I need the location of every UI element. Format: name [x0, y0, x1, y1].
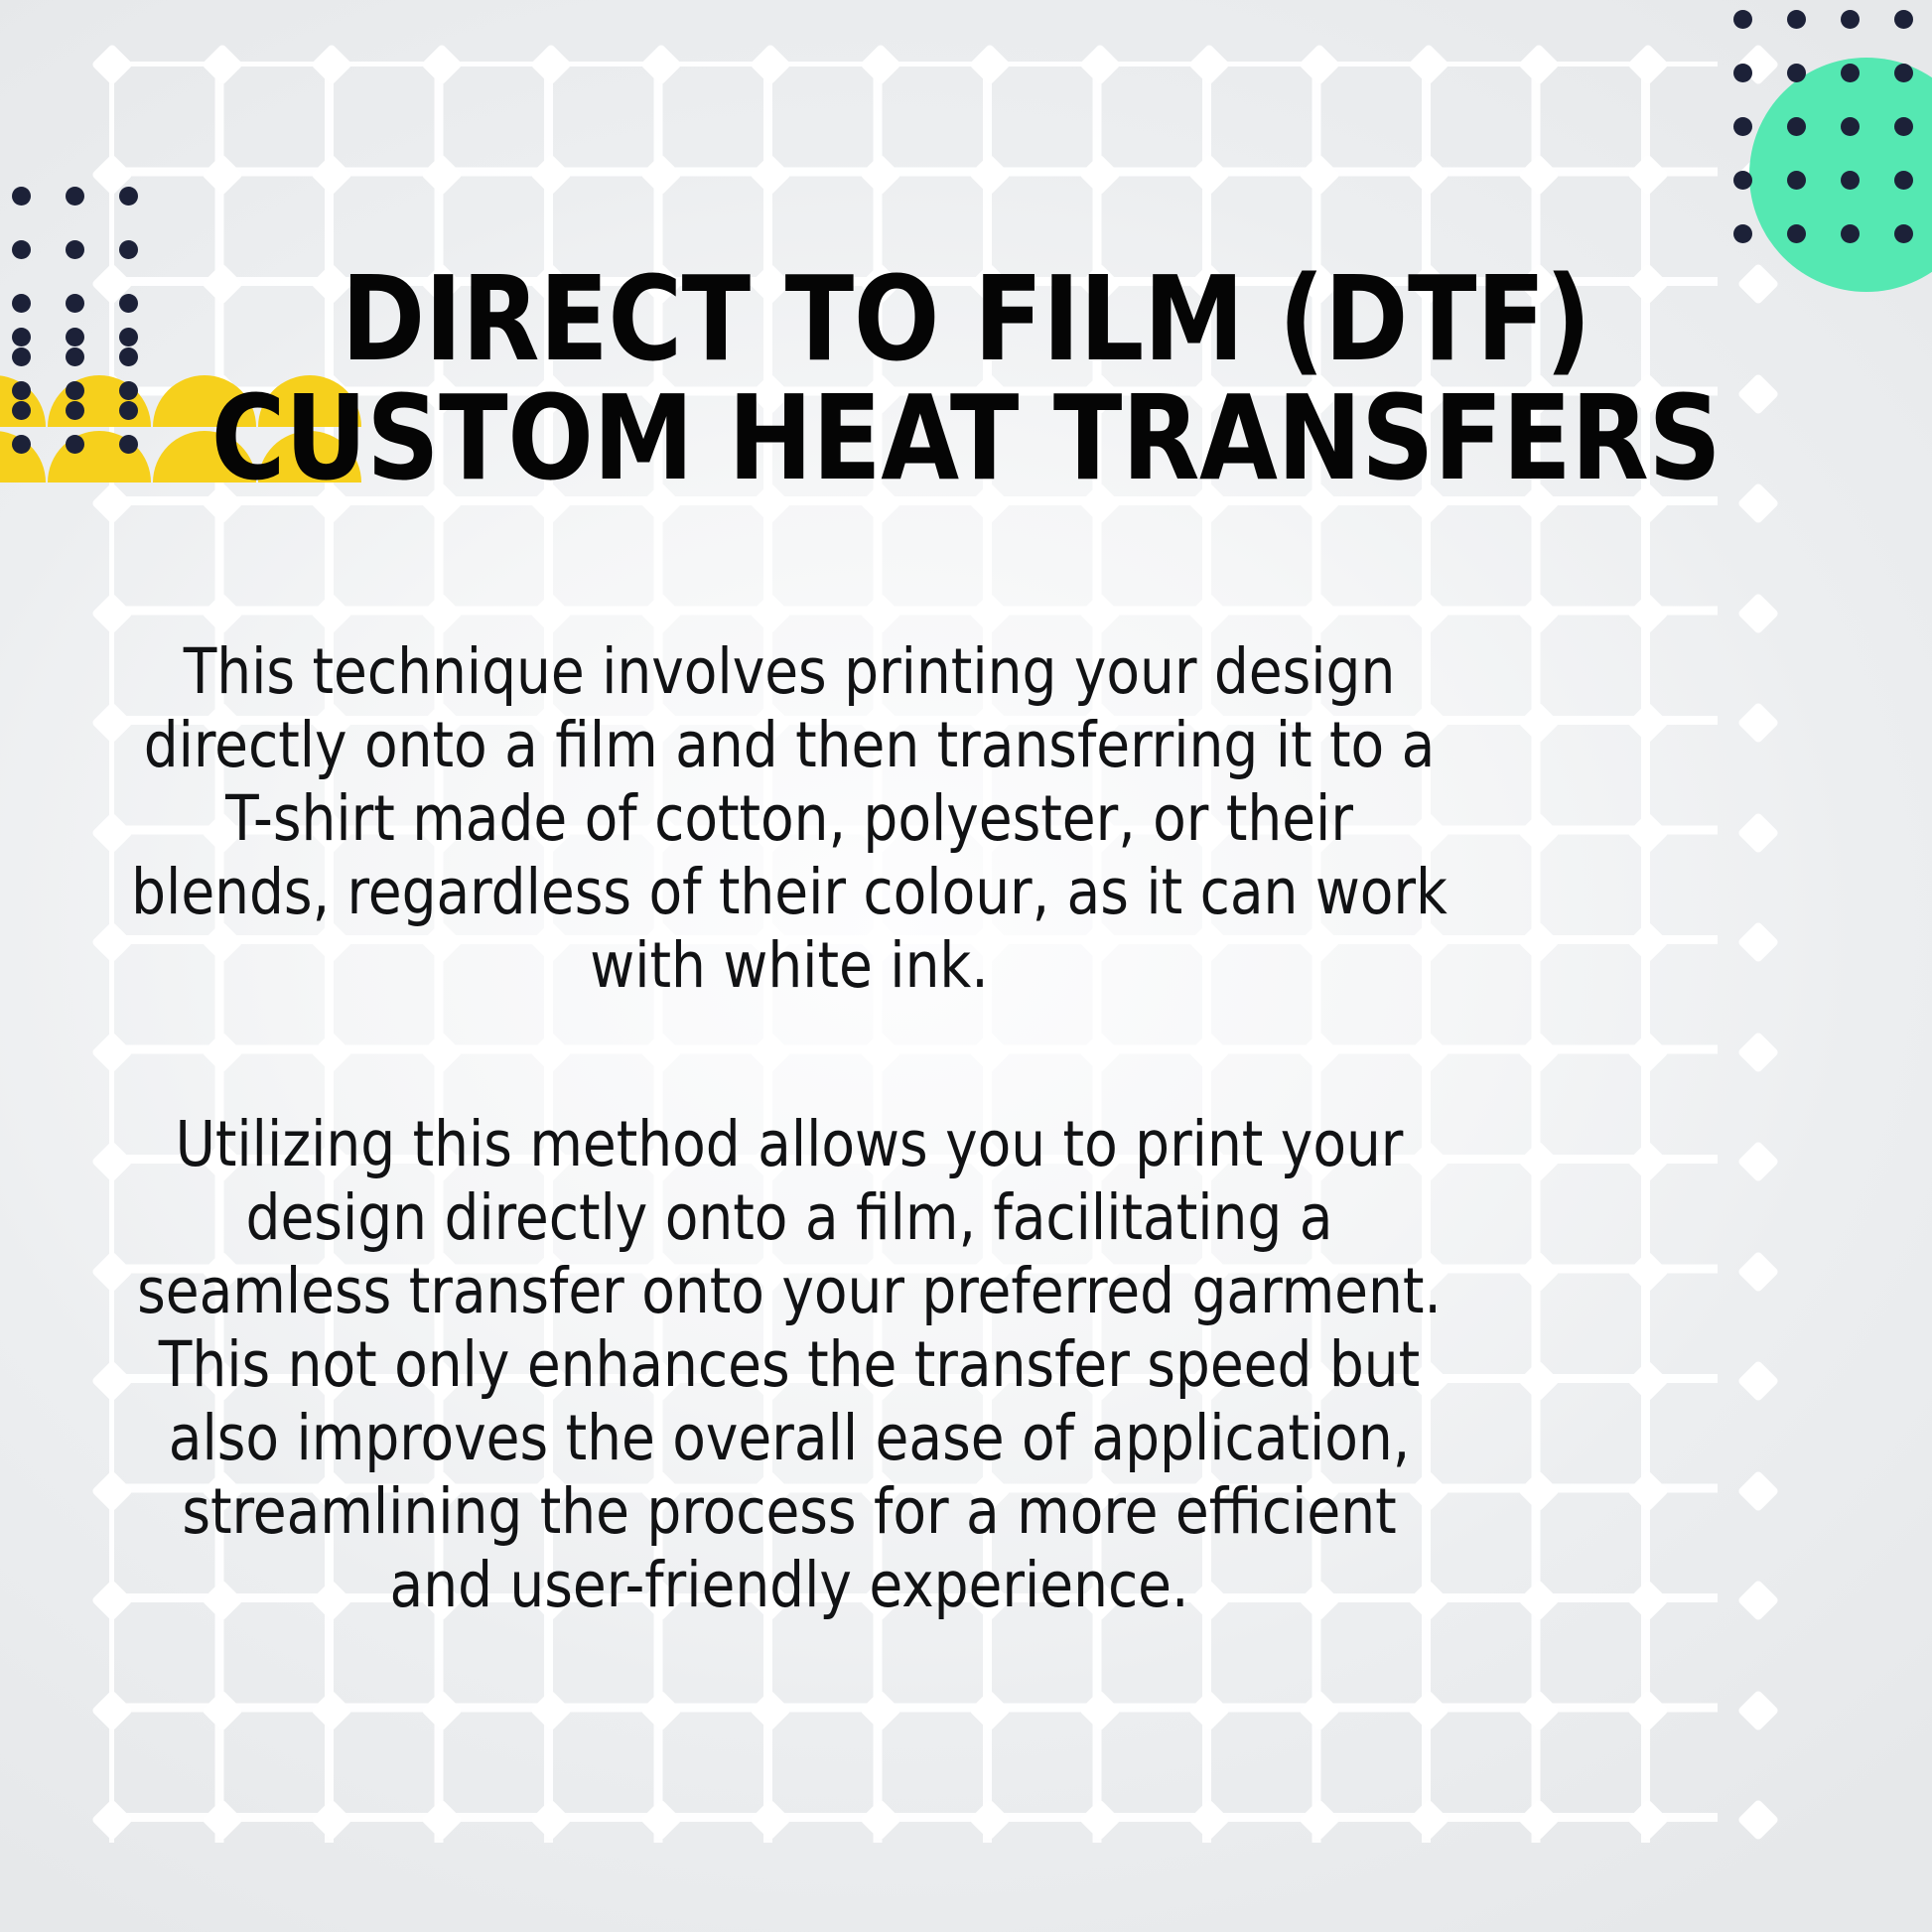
poster-content: DIRECT TO FILM (DTF) CUSTOM HEAT TRANSFE… [0, 0, 1932, 1932]
body-text-block: This technique involves printing your de… [107, 635, 1471, 1622]
page-title-line-1: DIRECT TO FILM (DTF) [182, 259, 1750, 378]
page-title: DIRECT TO FILM (DTF) CUSTOM HEAT TRANSFE… [182, 259, 1750, 498]
body-paragraph-2: Utilizing this method allows you to prin… [128, 1108, 1451, 1622]
page-title-line-2: CUSTOM HEAT TRANSFERS [182, 378, 1750, 497]
poster-canvas: DIRECT TO FILM (DTF) CUSTOM HEAT TRANSFE… [0, 0, 1932, 1932]
body-paragraph-1: This technique involves printing your de… [128, 635, 1451, 1003]
